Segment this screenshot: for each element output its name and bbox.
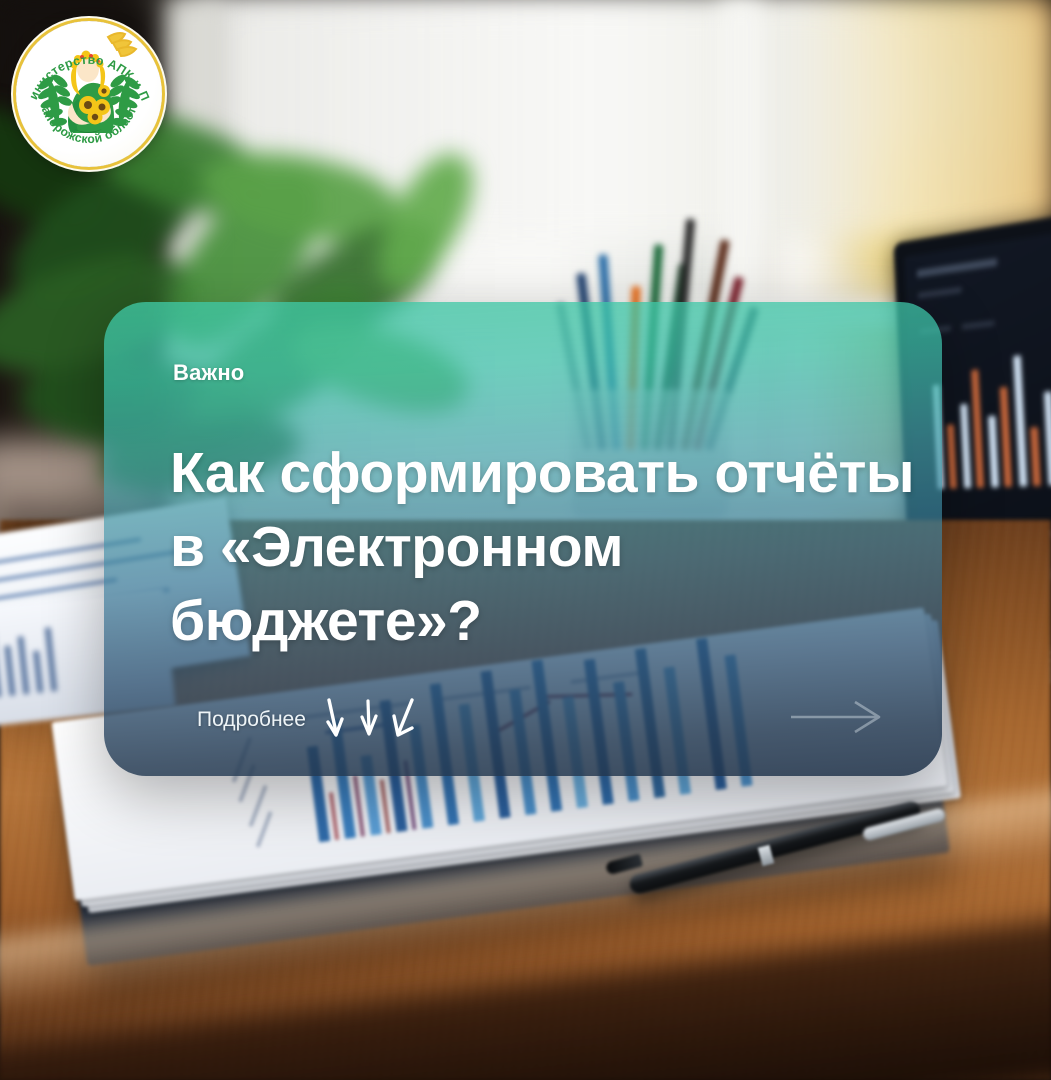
social-post-image: Важно Как сформировать отчёты в «Электро…	[0, 0, 1051, 1080]
down-arrows-group	[324, 698, 416, 742]
ministry-emblem: Министерство АПК и ПП Запорожской област…	[16, 21, 162, 167]
read-more-group[interactable]: Подробнее	[197, 698, 416, 742]
right-arrow-icon	[789, 700, 885, 734]
info-card: Важно Как сформировать отчёты в «Электро…	[104, 302, 942, 776]
card-kicker: Важно	[173, 360, 244, 386]
down-arrow-3-icon	[392, 698, 416, 742]
read-more-label: Подробнее	[197, 708, 306, 732]
down-arrow-2-icon	[359, 698, 379, 742]
card-title: Как сформировать отчёты в «Электронном б…	[170, 436, 930, 658]
down-arrow-1-icon	[324, 698, 346, 742]
